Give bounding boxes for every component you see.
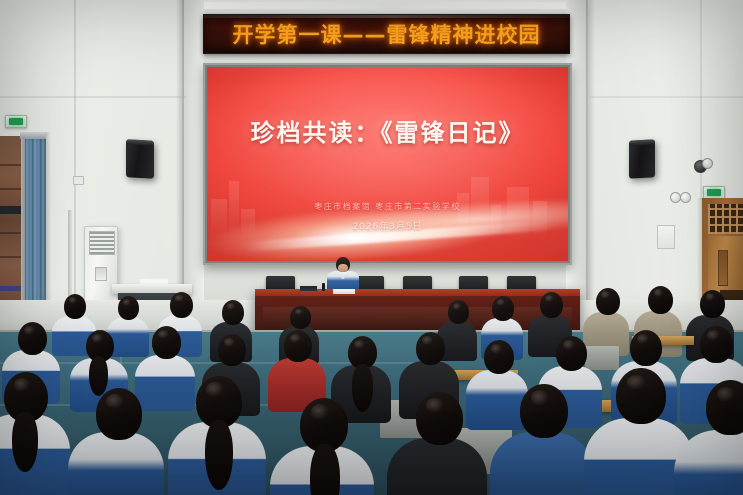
presenter-face xyxy=(338,264,348,272)
brick-line xyxy=(0,232,22,234)
soffit-left xyxy=(182,0,204,300)
ceiling-light-right xyxy=(400,2,580,9)
led-screen: 珍档共读：《雷锋日记》 枣庄市档案馆 枣庄市第二实验学校 2026年3月5日 xyxy=(207,67,568,261)
speaker-icon xyxy=(629,139,655,178)
door-panel xyxy=(718,250,728,286)
ceiling-light-left xyxy=(200,2,380,9)
presenter-papers xyxy=(333,289,355,294)
chair-back[interactable] xyxy=(585,346,619,370)
wall-trim-left xyxy=(0,96,186,98)
ac-vent xyxy=(89,231,115,255)
ac-display-panel xyxy=(95,267,107,281)
screen-title: 珍档共读：《雷锋日记》 xyxy=(207,113,568,148)
exit-sign-icon xyxy=(5,115,27,128)
left-window xyxy=(0,136,46,322)
wall-access-panel xyxy=(657,225,675,249)
brick-line xyxy=(0,164,22,166)
screen-organizations: 枣庄市档案馆 枣庄市第二实验学校 xyxy=(207,201,568,212)
soffit-shadow-left xyxy=(176,0,184,300)
brick-line xyxy=(0,188,22,190)
auditorium-photo: 开学第一课——雷锋精神进校园 珍档共读：《雷锋日记》 枣庄市档案馆 枣庄市第二实… xyxy=(0,0,743,495)
wall-corner-left xyxy=(46,132,52,327)
wall-socket xyxy=(73,176,84,185)
emergency-light-icon xyxy=(670,192,690,201)
security-camera-icon xyxy=(694,158,710,171)
soffit-shadow-right xyxy=(586,0,595,300)
banner-highlight xyxy=(204,15,569,18)
door-transom-grille xyxy=(708,204,743,234)
brick-line xyxy=(0,256,22,258)
screen-date: 2026年3月5日 xyxy=(207,219,568,232)
wall-seam-left xyxy=(74,0,76,330)
led-screen-frame: 珍档共读：《雷锋日记》 枣庄市档案馆 枣庄市第二实验学校 2026年3月5日 xyxy=(203,63,572,265)
name-card xyxy=(300,286,317,291)
banner-text: 开学第一课——雷锋精神进校园 xyxy=(233,19,541,49)
window-mullion xyxy=(0,206,22,214)
microphone-icon xyxy=(322,283,325,291)
speaker-icon xyxy=(126,139,154,178)
led-banner: 开学第一课——雷锋精神进校园 xyxy=(203,14,570,54)
window-sill-marker xyxy=(0,286,22,291)
wall-trim-right xyxy=(590,96,743,98)
